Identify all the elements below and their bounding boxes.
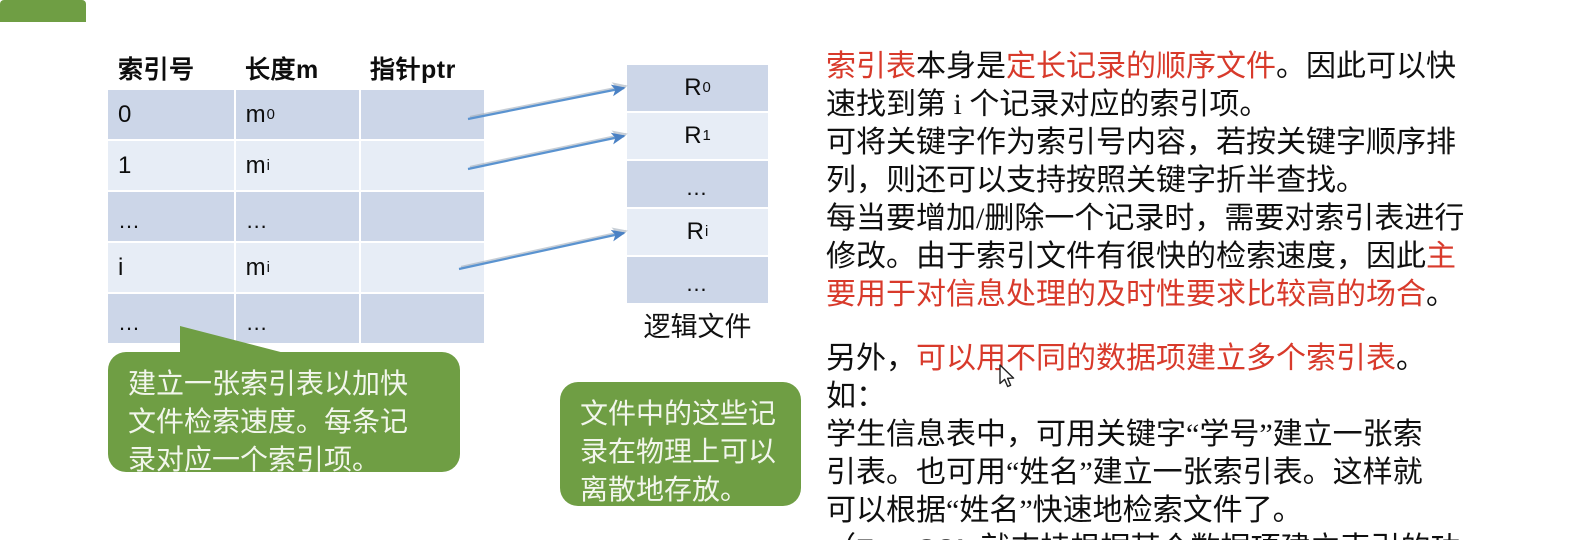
cell-length-text: m — [246, 152, 266, 180]
p1-black-b: 。因此可以快 — [1276, 50, 1456, 83]
index-table-header-row: 索引号 长度m 指针ptr — [108, 46, 484, 90]
callout-line: 录对应一个索引项。 — [128, 442, 442, 480]
slide-canvas: 索引文件的结构 索引号 长度m 指针ptr 0 m0 1 mi … … — [0, 0, 1576, 540]
explanation-text-block: 索引表本身是定长记录的顺序文件。因此可以快 速找到第 i 个记录对应的索引项。 … — [826, 48, 1476, 540]
record-row: … — [627, 257, 768, 303]
cell-pointer — [361, 243, 484, 292]
p3-period: 。 — [1426, 278, 1456, 311]
callout-line: 文件中的这些记 — [580, 396, 783, 434]
record-row: Ri — [627, 209, 768, 255]
logical-file-column: R0 R1 … Ri … — [627, 65, 768, 305]
paragraph-2-line-2: 列，则还可以支持按照关键字折半查找。 — [826, 162, 1476, 200]
record-label-sub: 1 — [703, 128, 711, 144]
cell-length-sub: i — [267, 260, 270, 276]
mouse-cursor-icon — [999, 364, 1017, 390]
cell-index-no: i — [108, 243, 234, 292]
callout-line: 录在物理上可以 — [580, 434, 783, 472]
p4-black-a: 另外， — [826, 342, 916, 375]
cell-index-no: … — [108, 192, 234, 241]
logical-file-callout: 文件中的这些记 录在物理上可以 离散地存放。 — [560, 382, 801, 506]
table-row: 0 m0 — [108, 90, 484, 139]
cell-index-no-text: i — [118, 254, 123, 282]
header-length: 长度m — [235, 50, 360, 86]
record-label: R — [687, 218, 704, 246]
cell-index-no-text: … — [118, 310, 142, 336]
paragraph-1-line-1: 索引表本身是定长记录的顺序文件。因此可以快 — [826, 48, 1476, 86]
cell-length: … — [236, 192, 360, 241]
paragraph-2-line-1: 可将关键字作为索引号内容，若按关键字顺序排 — [826, 124, 1476, 162]
cell-pointer — [361, 141, 484, 190]
index-table: 索引号 长度m 指针ptr 0 m0 1 mi … … i mi — [108, 46, 484, 345]
header-pointer: 指针ptr — [360, 50, 484, 86]
record-row: R0 — [627, 65, 768, 111]
p3-red-rest: 要用于对信息处理的及时性要求比较高的场合 — [826, 278, 1426, 311]
p1-red-b: 定长记录的顺序文件 — [1006, 50, 1276, 83]
ptr-arrow-0 — [468, 88, 624, 119]
cell-index-no-text: … — [118, 208, 142, 234]
paragraph-4-line-2: 学生信息表中，可用关键字“学号”建立一张索 — [826, 416, 1476, 454]
cell-pointer — [361, 192, 484, 241]
table-row: 1 mi — [108, 141, 484, 190]
paragraph-4-line-5: （Eg：SQL 就支持根据某个数据项建立索引的功能） — [826, 530, 1476, 540]
ptr-arrow-1 — [468, 136, 624, 169]
paragraph-1-line-2: 速找到第 i 个记录对应的索引项。 — [826, 86, 1476, 124]
callout-tail-logical — [0, 0, 86, 22]
cell-length-sub: 0 — [267, 107, 275, 123]
record-label: R — [684, 122, 701, 150]
p3-black: 修改。由于索引文件有很快的检索速度，因此 — [826, 240, 1426, 273]
eg-open-paren: （ — [826, 532, 856, 540]
table-row: i mi — [108, 243, 484, 292]
cell-index-no: 0 — [108, 90, 234, 139]
p1-black-a: 本身是 — [916, 50, 1006, 83]
eg-label: Eg：SQL — [856, 534, 973, 540]
paragraph-3-line-1: 每当要增加/删除一个记录时，需要对索引表进行 — [826, 200, 1476, 238]
index-table-body: 0 m0 1 mi … … i mi … … — [108, 90, 484, 343]
index-table-callout: 建立一张索引表以加快 文件检索速度。每条记 录对应一个索引项。 — [108, 352, 460, 472]
paragraph-3-line-3: 要用于对信息处理的及时性要求比较高的场合。 — [826, 276, 1476, 314]
cell-length-text: m — [246, 254, 266, 282]
paragraph-4-line-4: 可以根据“姓名”快速地检索文件了。 — [826, 492, 1476, 530]
table-row: … … — [108, 192, 484, 241]
callout-line: 文件检索速度。每条记 — [128, 404, 442, 442]
cell-index-no-text: 1 — [118, 152, 131, 180]
cell-index-no-text: 0 — [118, 101, 131, 129]
cell-length: mi — [236, 243, 360, 292]
paragraph-3-line-2: 修改。由于索引文件有很快的检索速度，因此主 — [826, 238, 1476, 276]
cell-length: m0 — [236, 90, 360, 139]
record-row: R1 — [627, 113, 768, 159]
record-label: … — [686, 271, 710, 297]
cell-index-no: 1 — [108, 141, 234, 190]
callout-line: 建立一张索引表以加快 — [128, 366, 442, 404]
record-label: … — [686, 175, 710, 201]
cell-length-sub: i — [267, 158, 270, 174]
slide-title-partial: 索引文件的结构 — [108, 0, 528, 8]
record-label-sub: 0 — [703, 80, 711, 96]
record-row: … — [627, 161, 768, 207]
paragraph-4-line-3: 引表。也可用“姓名”建立一张索引表。这样就 — [826, 454, 1476, 492]
record-label-sub: i — [705, 224, 708, 240]
cell-length-text: … — [246, 208, 270, 234]
cell-pointer — [361, 294, 484, 343]
p1-red-a: 索引表 — [826, 50, 916, 83]
p4-red: 可以用不同的数据项建立多个索引表 — [916, 342, 1396, 375]
paragraph-spacer — [826, 314, 1476, 340]
record-label: R — [684, 74, 701, 102]
cell-length: mi — [236, 141, 360, 190]
p3-red-start: 主 — [1426, 240, 1456, 273]
callout-line: 离散地存放。 — [580, 472, 783, 510]
table-row: … … — [108, 294, 484, 343]
slide-title-text: 索引文件的结构 — [108, 0, 528, 6]
logical-file-caption: 逻辑文件 — [627, 305, 768, 344]
paragraph-4-line-1: 另外，可以用不同的数据项建立多个索引表。如： — [826, 340, 1476, 416]
cell-length-text: m — [246, 101, 266, 129]
cell-pointer — [361, 90, 484, 139]
header-index-no: 索引号 — [108, 50, 235, 86]
